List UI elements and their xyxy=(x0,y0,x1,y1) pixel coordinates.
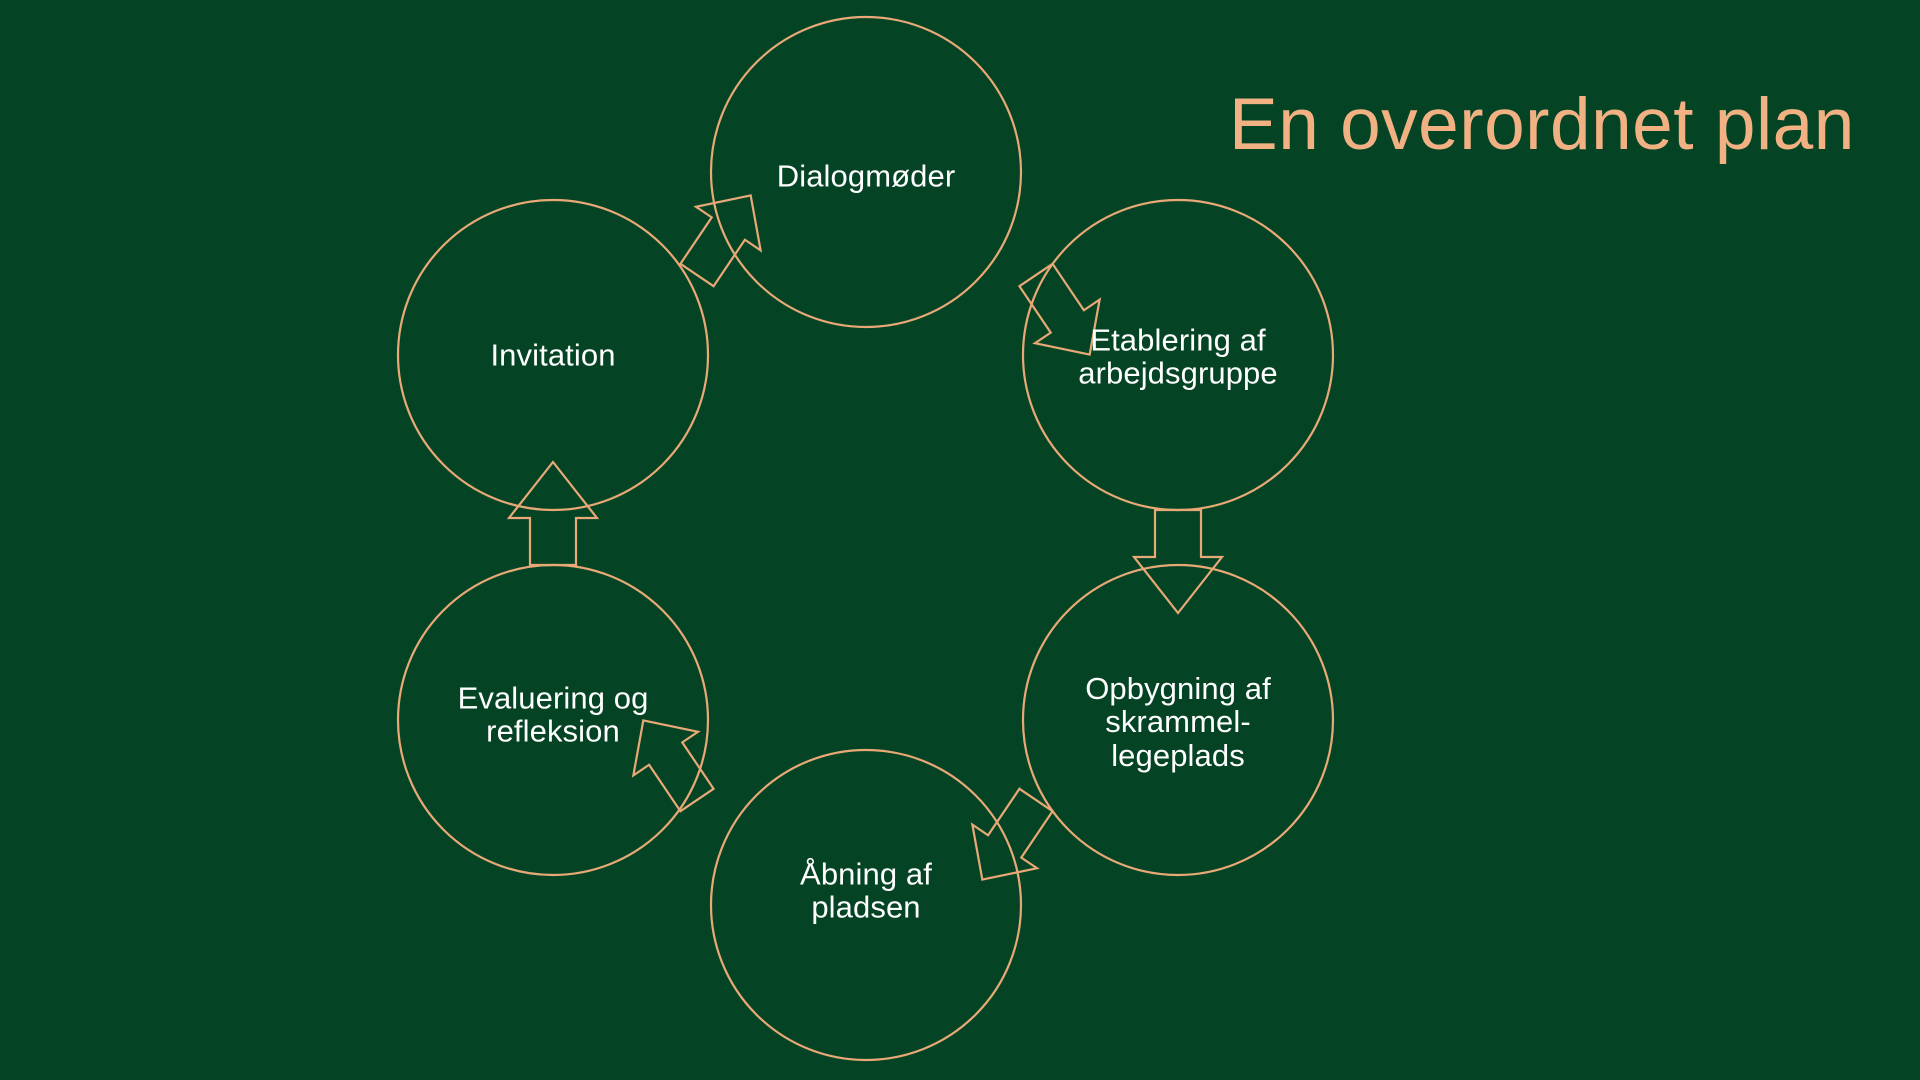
node-circle-evaluering[interactable] xyxy=(398,565,708,875)
arrow-aabning-to-evaluering[interactable] xyxy=(611,699,729,822)
node-circle-etablering[interactable] xyxy=(1023,200,1333,510)
arrow-dialogmoeder-to-etablering[interactable] xyxy=(1004,253,1122,376)
arrow-etablering-to-opbygning[interactable] xyxy=(1134,510,1222,613)
arrow-evaluering-to-invitation[interactable] xyxy=(509,462,597,565)
slide-title: En overordnet plan xyxy=(1229,88,1855,161)
slide-canvas: Dialogmøder Etablering af arbejdsgruppe … xyxy=(0,0,1920,1080)
node-circle-aabning[interactable] xyxy=(711,750,1021,1060)
node-circle-dialogmoeder[interactable] xyxy=(711,17,1021,327)
arrow-opbygning-to-aabning[interactable] xyxy=(950,778,1068,901)
